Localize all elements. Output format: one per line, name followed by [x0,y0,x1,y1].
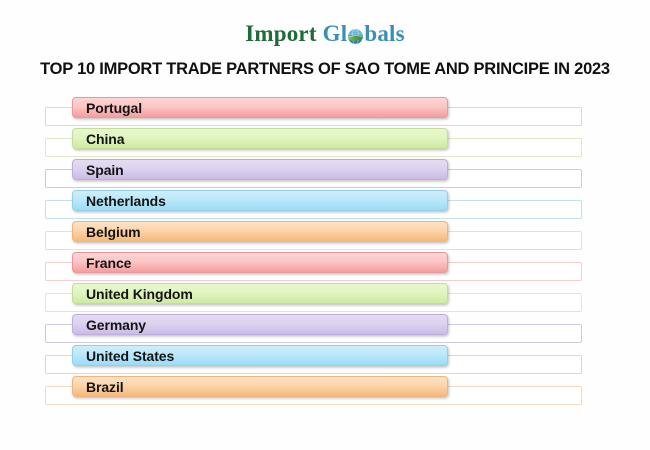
bar[interactable]: United States [72,345,448,366]
bar-label: Germany [73,318,146,332]
bar[interactable]: United Kingdom [72,283,448,304]
bar-label: Brazil [73,380,124,394]
chart-row: Germany [0,313,650,344]
bar-label: China [73,132,124,146]
chart-row: Belgium [0,220,650,251]
bar[interactable]: Netherlands [72,190,448,211]
chart-row: Netherlands [0,189,650,220]
brand-logo-text: Import Gl [245,22,405,45]
bar-label: United Kingdom [73,287,193,301]
chart-row: China [0,127,650,158]
bar-label: Spain [73,163,124,177]
brand-word-gl: Gl [323,21,348,46]
bar-label: Netherlands [73,194,166,208]
chart-row: United Kingdom [0,282,650,313]
bar[interactable]: Belgium [72,221,448,242]
brand-logo: Import Gl [0,22,650,45]
bar[interactable]: France [72,252,448,273]
bar[interactable]: China [72,128,448,149]
brand-word-bals: bals [364,21,404,46]
chart-row: Portugal [0,96,650,127]
bar[interactable]: Brazil [72,376,448,397]
bar[interactable]: Portugal [72,97,448,118]
chart-page: Import Gl [0,0,650,450]
bar-label: Portugal [73,101,142,115]
chart-row: Brazil [0,375,650,406]
bar-label: United States [73,349,174,363]
brand-word-import: Import [245,21,316,46]
chart-row: United States [0,344,650,375]
bar-label: France [73,256,131,270]
globe-icon [347,26,364,43]
bar-label: Belgium [73,225,141,239]
chart-row: Spain [0,158,650,189]
chart-row: France [0,251,650,282]
bar[interactable]: Germany [72,314,448,335]
bar[interactable]: Spain [72,159,448,180]
bar-chart: Portugal China Spain Netherlands Belgium [0,96,650,426]
chart-title: TOP 10 IMPORT TRADE PARTNERS OF SAO TOME… [0,60,650,79]
